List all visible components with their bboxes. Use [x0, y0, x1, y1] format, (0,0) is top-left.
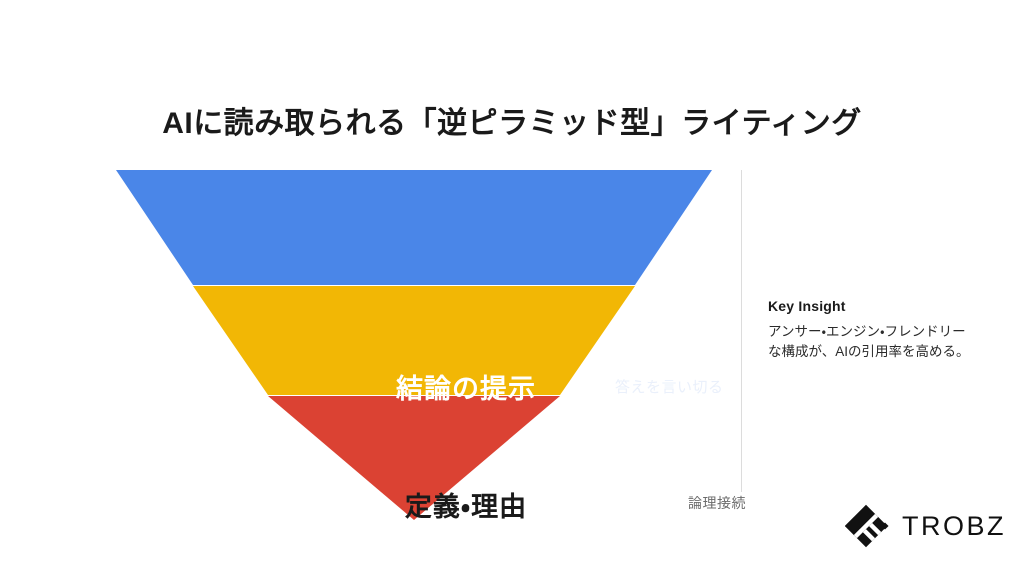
slide-canvas: AIに読み取られる「逆ピラミッド型」ライティング 結論の提示 答えを言い切る 定…: [0, 0, 1024, 572]
funnel-band-yellow-sublabel: 論理接続: [688, 493, 746, 513]
trobz-diamond-icon: [845, 503, 891, 549]
key-insight-panel: Key Insight アンサー・エンジン・フレンドリーな構成が、AIの引用率を…: [768, 298, 978, 362]
funnel-band-blue: [116, 170, 712, 285]
key-insight-heading: Key Insight: [768, 298, 978, 314]
funnel-band-red-label-line1: 信頼性・: [400, 559, 630, 572]
brand-logo: TROBZ: [845, 503, 1006, 549]
funnel-band-red-label: 信頼性・ 一次情報: [400, 559, 630, 572]
key-insight-body: アンサー・エンジン・フレンドリーな構成が、AIの引用率を高める。: [768, 322, 978, 362]
funnel-band-blue-label: 結論の提示: [336, 367, 596, 406]
inverted-pyramid-diagram: 結論の提示 答えを言い切る 定義・理由 論理接続 信頼性・ 一次情報 権威性と体…: [100, 160, 740, 540]
funnel-band-blue-sublabel: 答えを言い切る: [615, 376, 724, 397]
page-title: AIに読み取られる「逆ピラミッド型」ライティング: [0, 98, 1024, 142]
funnel-band-yellow-label: 定義・理由: [336, 485, 596, 524]
brand-wordmark: TROBZ: [902, 513, 1006, 540]
funnel-shape-svg: [100, 160, 740, 540]
vertical-divider: [741, 170, 742, 492]
